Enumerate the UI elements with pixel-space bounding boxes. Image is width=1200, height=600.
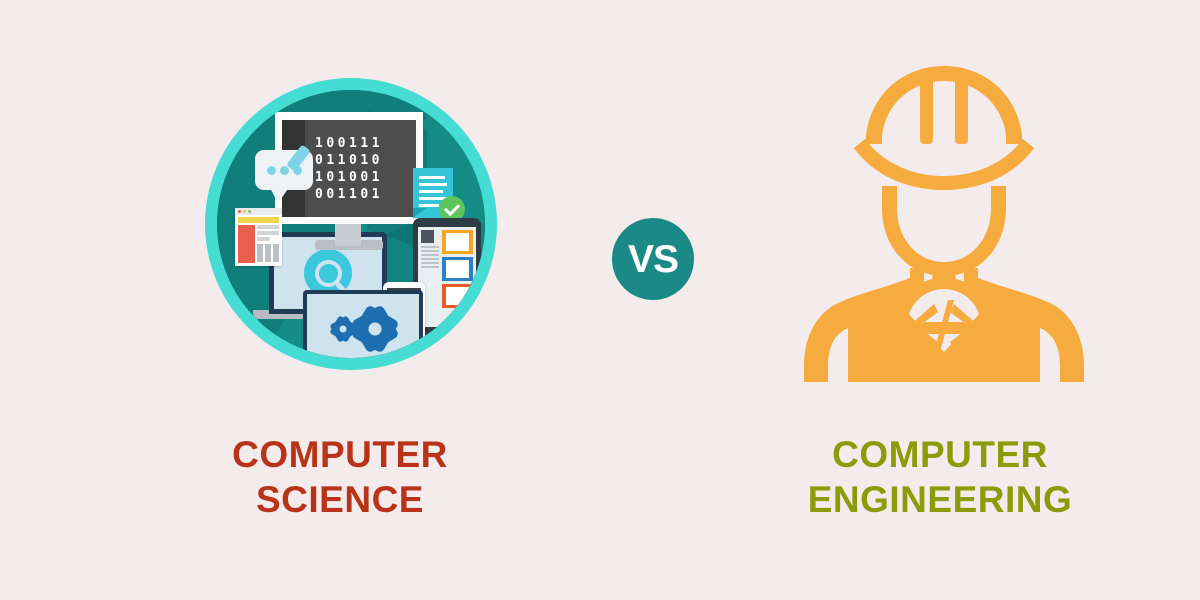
caption-line-2: SCIENCE	[140, 477, 540, 522]
browser-content	[235, 225, 282, 263]
text-line	[257, 237, 270, 241]
chat-dot-icon	[267, 166, 276, 175]
doc-text-line	[419, 183, 447, 186]
hardhat-brim	[854, 139, 1034, 190]
tablet-screen	[418, 227, 476, 327]
browser-window-card	[235, 208, 282, 266]
card-thumbnail	[446, 260, 469, 278]
check-glyph	[444, 199, 460, 215]
text-line	[421, 246, 439, 248]
browser-image-block	[238, 225, 255, 263]
doc-text-line	[419, 204, 439, 207]
binary-row: 001101	[315, 188, 383, 201]
gear-hole	[340, 326, 347, 333]
gear-icon-large	[357, 311, 393, 347]
card-thumbnail	[446, 233, 469, 251]
text-line	[421, 262, 439, 264]
content-card	[442, 284, 473, 308]
computer-engineering-illustration	[798, 52, 1090, 382]
chart-bar	[257, 244, 263, 262]
settings-monitor	[303, 290, 423, 358]
text-line	[421, 254, 439, 256]
content-card	[442, 257, 473, 281]
card-thumbnail	[446, 287, 469, 305]
engineer-head	[882, 194, 1006, 276]
comparison-graphic: 100111 011010 101001 001101	[0, 0, 1200, 600]
tablet-home-button	[442, 329, 448, 335]
monitor-neck	[335, 224, 361, 246]
versus-label: VS	[628, 240, 678, 279]
tablet-card-list	[442, 230, 473, 324]
doc-text-line	[419, 176, 445, 179]
computer-engineering-caption: COMPUTER ENGINEERING	[730, 432, 1150, 522]
head-tab-right	[991, 186, 1006, 200]
chart-blocks	[257, 244, 279, 262]
computer-science-caption: COMPUTER SCIENCE	[140, 432, 540, 522]
magnifier-glass	[315, 260, 342, 287]
maximize-icon	[248, 210, 251, 213]
text-line	[421, 266, 439, 268]
gear-code-icon	[885, 268, 1003, 382]
versus-badge: VS	[612, 218, 694, 300]
binary-row: 011010	[315, 154, 383, 167]
engineer-with-hardhat-icon	[798, 52, 1090, 382]
content-card	[442, 230, 473, 254]
text-line	[257, 231, 279, 235]
caption-line-1: COMPUTER	[730, 432, 1150, 477]
browser-banner	[238, 217, 279, 223]
gear-hole	[369, 323, 382, 336]
settings-monitor-screen	[307, 294, 419, 358]
browser-text-column	[257, 225, 279, 263]
document-fold	[413, 208, 426, 218]
cs-circle-disc: 100111 011010 101001 001101	[217, 90, 485, 358]
avatar	[421, 230, 434, 243]
browser-titlebar	[235, 208, 282, 215]
caption-line-2: ENGINEERING	[730, 477, 1150, 522]
caption-line-1: COMPUTER	[140, 432, 540, 477]
chat-dot-icon	[280, 166, 289, 175]
head-tab-left	[882, 186, 897, 200]
close-icon	[238, 210, 241, 213]
minimize-icon	[243, 210, 246, 213]
chart-bar	[273, 244, 279, 262]
text-line	[257, 225, 279, 229]
text-line	[421, 250, 439, 252]
doc-text-line	[419, 190, 443, 193]
computer-science-illustration: 100111 011010 101001 001101	[205, 78, 497, 370]
text-line	[421, 258, 439, 260]
binary-row: 100111	[315, 137, 383, 150]
chart-bar	[265, 244, 271, 262]
binary-row: 101001	[315, 171, 383, 184]
gear-icon-small	[333, 319, 353, 339]
